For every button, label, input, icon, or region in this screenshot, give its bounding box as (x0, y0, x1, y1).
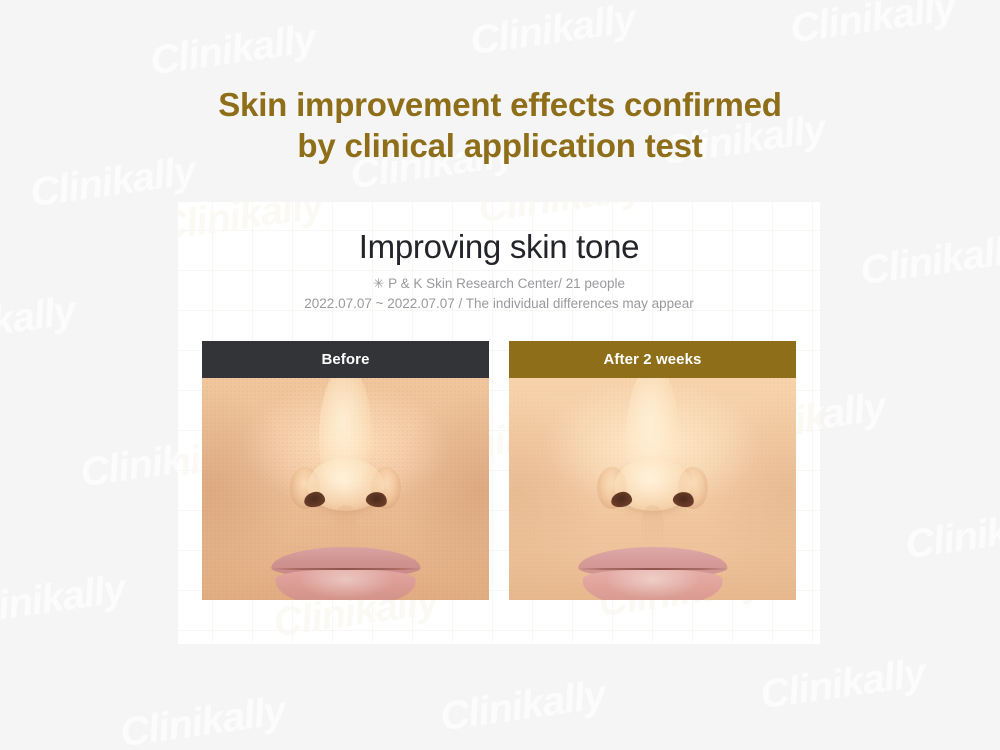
card-content: Improving skin tone ✳ P & K Skin Researc… (178, 228, 820, 314)
watermark-text: Clinikally (788, 0, 958, 52)
card-subtitle-line-2: 2022.07.07 ~ 2022.07.07 / The individual… (178, 294, 820, 314)
before-label: Before (202, 341, 489, 378)
watermark-text: Clinikally (758, 651, 928, 719)
watermark-text: Clinikally (468, 0, 638, 64)
card-subtitle-line-1: ✳ P & K Skin Research Center/ 21 people (178, 274, 820, 294)
page-title: Skin improvement effects confirmed by cl… (0, 84, 1000, 166)
watermark-text: Clinikally (0, 567, 128, 635)
chin-shadow (202, 551, 489, 600)
after-panel: After 2 weeks (509, 341, 796, 600)
after-label: After 2 weeks (509, 341, 796, 378)
clinical-result-card: Clinikally Clinikally Clinikally Clinika… (178, 202, 820, 644)
before-after-comparison: Before After 2 weeks (202, 341, 796, 600)
philtrum (334, 505, 357, 547)
page-title-line-2: by clinical application test (0, 125, 1000, 166)
philtrum (641, 505, 664, 547)
watermark-text: Clinikally (0, 289, 78, 357)
page-title-line-1: Skin improvement effects confirmed (0, 84, 1000, 125)
before-photo (202, 378, 489, 600)
before-panel: Before (202, 341, 489, 600)
watermark-text: Clinikally (858, 227, 1000, 295)
watermark-text: Clinikally (118, 689, 288, 750)
chin-shadow (509, 551, 796, 600)
watermark-text: Clinikally (438, 673, 608, 741)
card-subtitle: ✳ P & K Skin Research Center/ 21 people … (178, 274, 820, 314)
card-title: Improving skin tone (178, 228, 820, 266)
after-photo (509, 378, 796, 600)
watermark-text: Clinikally (148, 17, 318, 85)
watermark-text: Clinikally (903, 501, 1000, 569)
